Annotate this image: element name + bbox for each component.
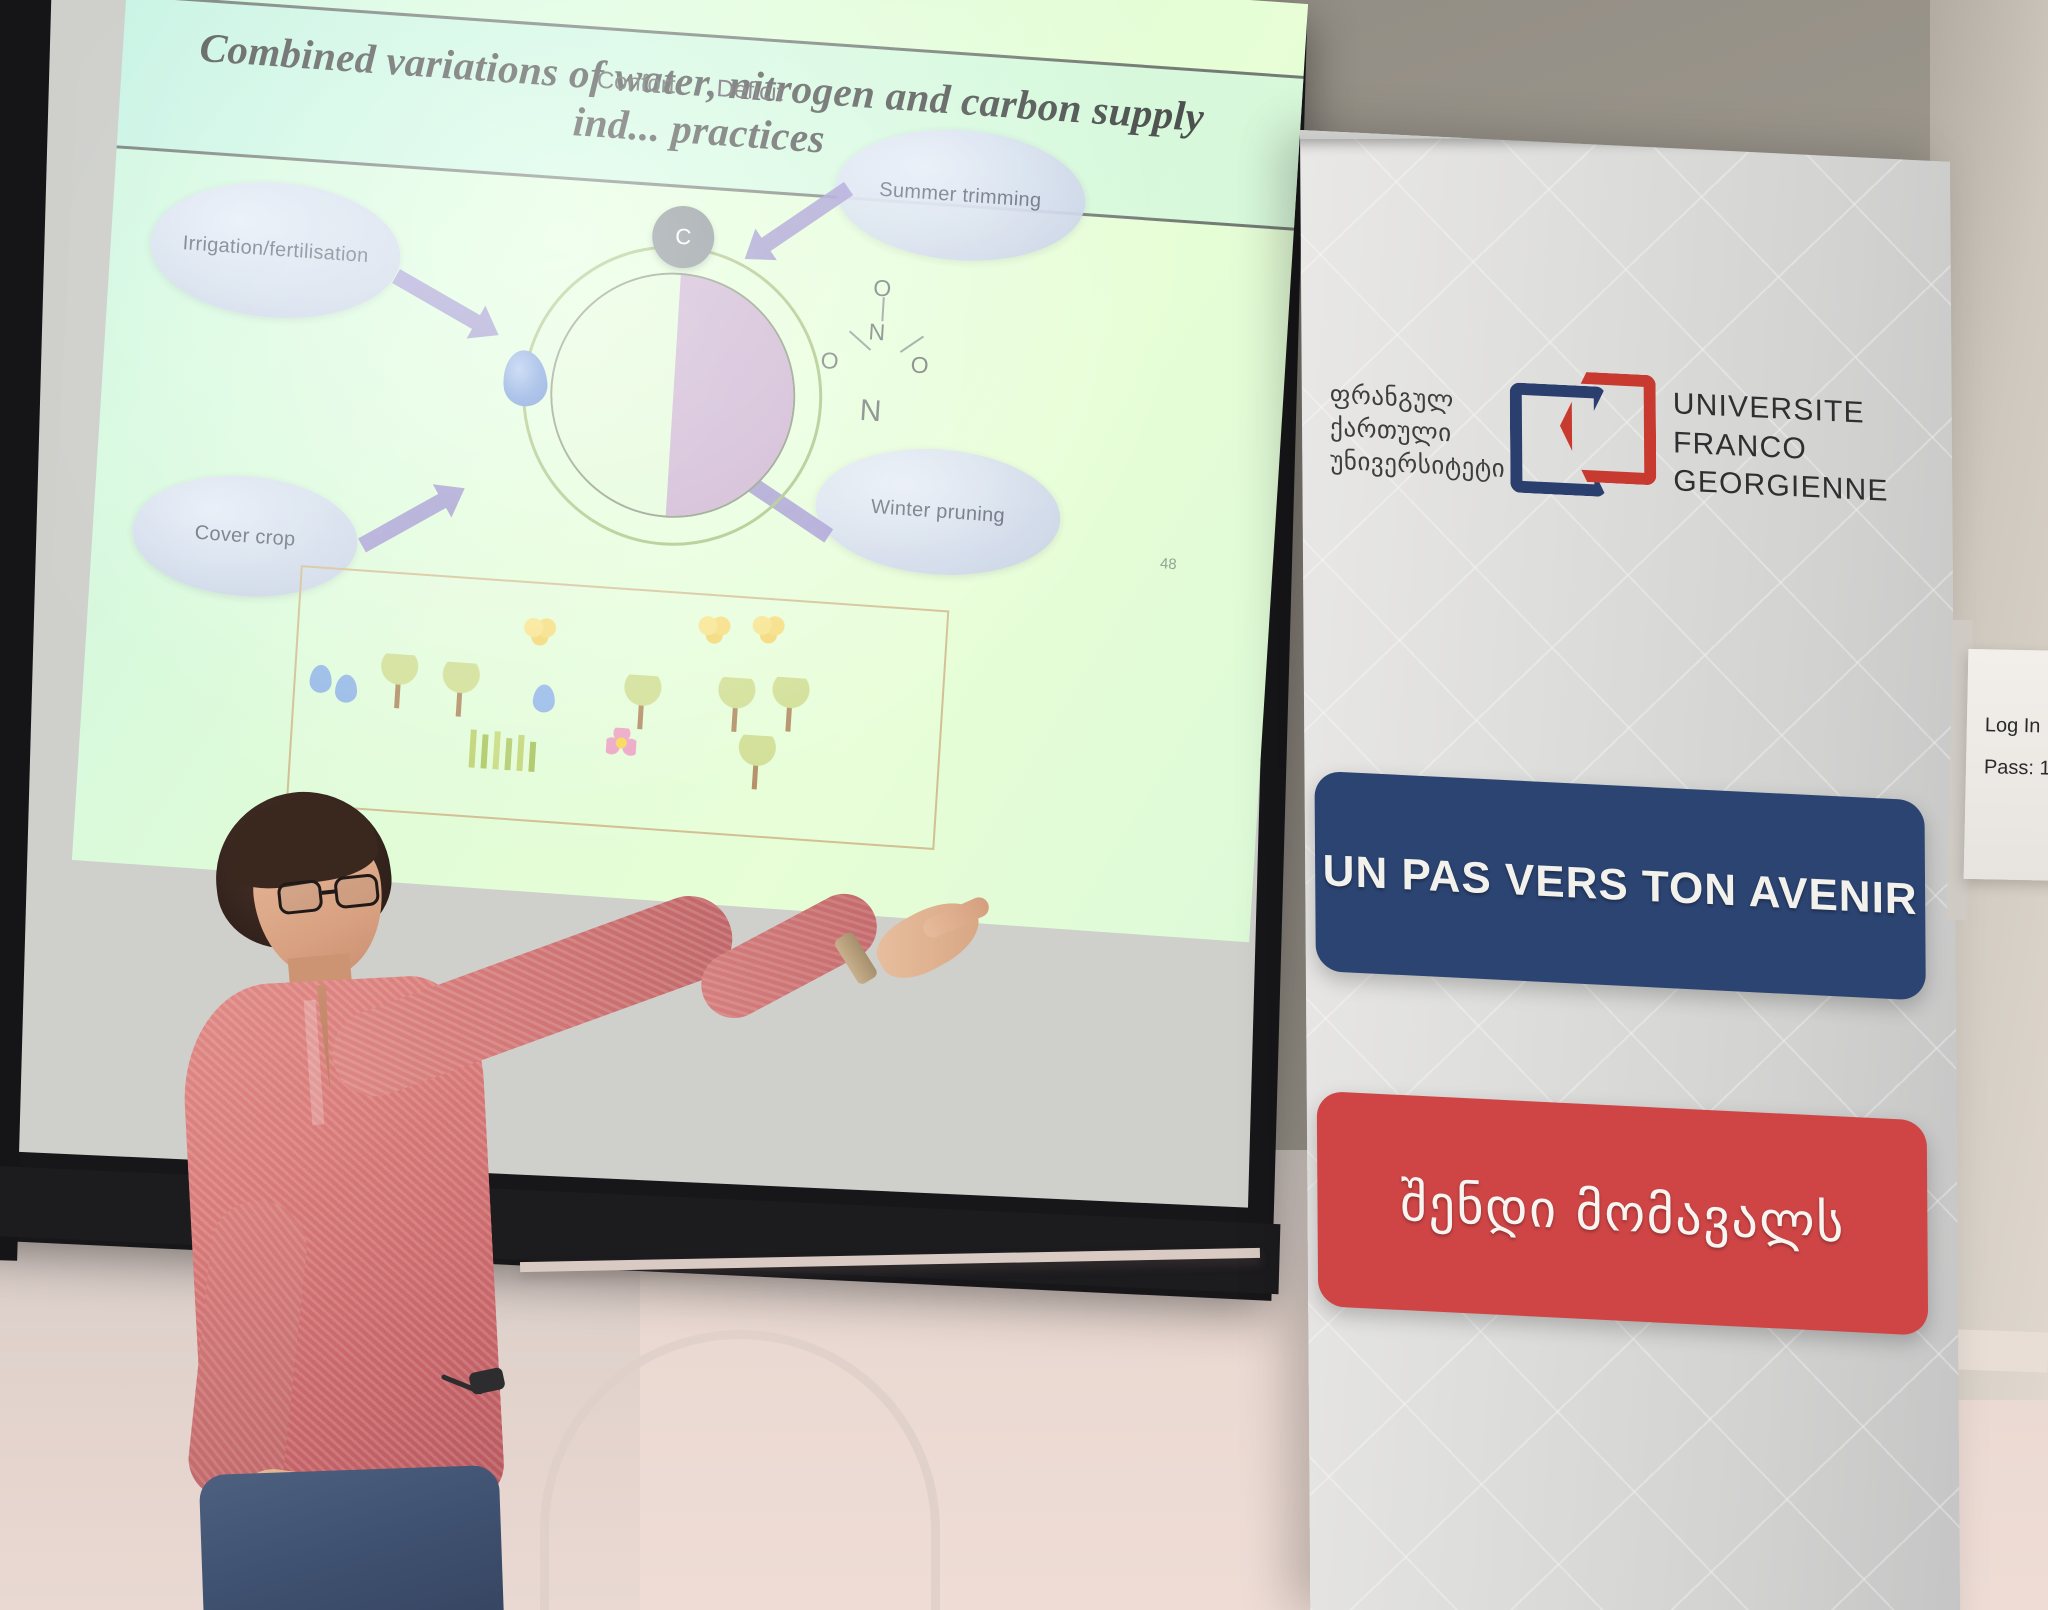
inner-circle — [543, 264, 803, 526]
banner-plaque-blue: UN PAS VERS TON AVENIR — [1314, 771, 1925, 1001]
water-drop-icon — [532, 684, 556, 713]
presenter-trousers — [199, 1465, 505, 1610]
glasses-lens-right — [333, 873, 380, 909]
bubble-label: Irrigation/fertilisation — [182, 232, 369, 268]
bloom-icon — [697, 613, 733, 645]
banner-slogan-french: UN PAS VERS TON AVENIR — [1323, 846, 1918, 925]
bubble-label: Cover crop — [194, 521, 296, 551]
vine-icon — [430, 661, 491, 719]
banner-slogan-georgian: შენდი მომავალს — [1400, 1172, 1845, 1254]
vine-icon — [611, 673, 672, 731]
deficit-half — [665, 275, 800, 524]
logo-french-text: UNIVERSITE FRANCO GEORGIENNE — [1673, 386, 1889, 512]
molecule-element-n: N — [859, 394, 883, 429]
wall-sign-pass-line: Pass: 1 — [1984, 746, 2048, 790]
banner-plaque-red: შენდი მომავალს — [1317, 1091, 1928, 1336]
grass-icon — [469, 729, 541, 772]
rollup-banner: ფრანგულ ქართული უნივერსიტეტი UNIVERSITE … — [1300, 130, 1960, 1610]
nitrate-molecule-icon: O N O O N — [799, 270, 970, 461]
vine-icon — [759, 676, 820, 734]
vine-icon — [726, 733, 787, 791]
banner-logo: ფრანგულ ქართული უნივერსიტეტი UNIVERSITE … — [1329, 331, 1930, 550]
ufg-logo-icon — [1504, 360, 1660, 518]
bubble-label: Summer trimming — [879, 178, 1042, 212]
bloom-icon — [751, 613, 787, 645]
bubble-label: Winter pruning — [870, 496, 1005, 528]
confort-label: Confort — [596, 67, 676, 100]
wifi-credentials-sign: Log In Pass: 1 — [1964, 649, 2048, 881]
deficit-label: Deficit — [716, 75, 784, 108]
flower-icon — [605, 727, 637, 759]
molecule-o-left: O — [820, 347, 840, 375]
logo-georgian-text: ფრანგულ ქართული უნივერსიტეტი — [1330, 377, 1491, 484]
water-drop-icon — [309, 664, 333, 693]
arrow-irrigation-to-center — [392, 269, 483, 331]
bubble-irrigation-fertilisation: Irrigation/fertilisation — [147, 174, 405, 326]
wall-sign-login-line: Log In — [1984, 704, 2048, 748]
slide-number: 48 — [1159, 555, 1177, 573]
molecule-n-plus: N — [868, 318, 886, 346]
bloom-icon — [522, 615, 558, 647]
bubble-winter-pruning: Winter pruning — [812, 441, 1064, 583]
presenter — [140, 770, 700, 1610]
vine-icon — [368, 652, 429, 710]
confort-half — [545, 267, 680, 516]
water-drop-icon — [334, 674, 358, 703]
screenshot-root: Combined variations of water, nitrogen a… — [0, 0, 2048, 1610]
molecule-o-right: O — [910, 351, 930, 379]
arrow-cover-crop-to-center — [358, 492, 449, 553]
vine-icon — [705, 676, 766, 734]
glasses-lens-left — [277, 879, 324, 915]
